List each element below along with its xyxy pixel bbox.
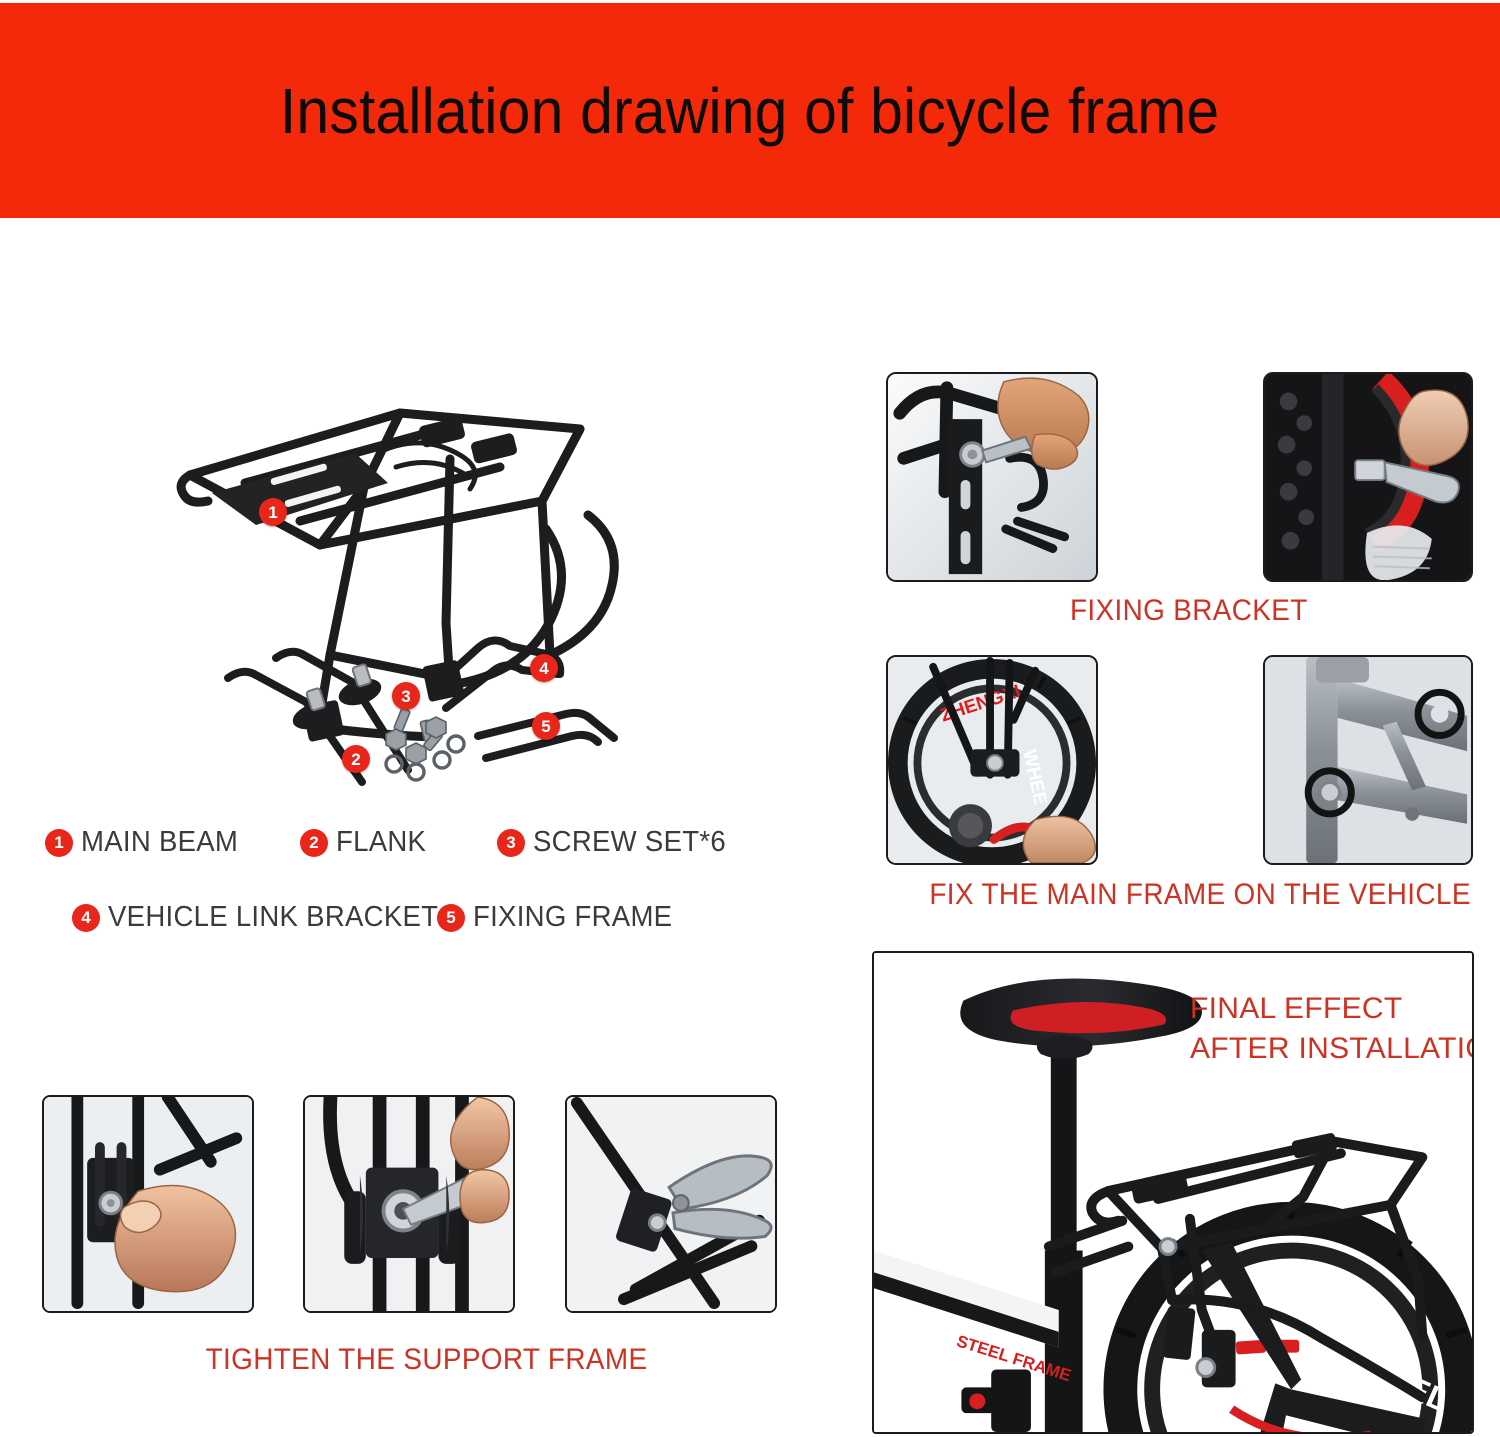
callout-5: 5 — [532, 712, 560, 740]
caption-fix-main-frame: FIX THE MAIN FRAME ON THE VEHICLE — [930, 878, 1471, 912]
photo-hex-key-tighten — [303, 1095, 515, 1313]
callout-3: 3 — [392, 682, 420, 710]
hand-bolt-photo-art — [44, 1097, 252, 1311]
frame-mount-photo-art — [1265, 657, 1471, 863]
legend-label-2: FLANK — [336, 826, 426, 859]
photo-hand-bolt — [42, 1095, 254, 1313]
legend-item-vehicle-link-bracket: 4 VEHICLE LINK BRACKET — [72, 901, 456, 934]
legend-badge-4: 4 — [72, 904, 100, 932]
pliers-photo-art — [567, 1097, 775, 1311]
legend-badge-2: 2 — [300, 829, 328, 857]
legend-label-1: MAIN BEAM — [81, 826, 238, 859]
photo-rear-wheel-mount: ZHENGXI WHEE — [886, 655, 1098, 865]
small-parts-drawing — [210, 630, 670, 820]
photo-installed-rack-on-bike: ER LITE STEEL FRAME WHEEL — [872, 951, 1474, 1434]
caption-final-effect-line1: FINAL EFFECT — [1190, 989, 1474, 1029]
legend-item-flank: 2 FLANK — [300, 826, 431, 859]
photo-frame-mount-points — [1263, 655, 1473, 865]
caption-final-effect-line2: AFTER INSTALLATION — [1190, 1029, 1474, 1069]
exploded-parts-illustration: 2 3 4 5 — [210, 630, 670, 820]
legend-badge-5: 5 — [437, 904, 465, 932]
caption-tighten-support-frame: TIGHTEN THE SUPPORT FRAME — [206, 1343, 648, 1377]
callout-4: 4 — [530, 654, 558, 682]
page-title: Installation drawing of bicycle frame — [280, 74, 1220, 148]
caption-final-effect: FINAL EFFECT AFTER INSTALLATION — [1190, 989, 1474, 1069]
rear-wheel-photo-art: ZHENGXI WHEE — [888, 657, 1096, 863]
callout-2: 2 — [342, 745, 370, 773]
legend-badge-1: 1 — [45, 829, 73, 857]
photo-rack-bracket-closeup — [886, 372, 1098, 582]
caption-fixing-bracket: FIXING BRACKET — [1070, 594, 1308, 628]
rack-bracket-photo-art — [888, 374, 1096, 580]
hex-key-photo-art — [305, 1097, 513, 1311]
legend-badge-3: 3 — [497, 829, 525, 857]
legend-label-3: SCREW SET*6 — [533, 826, 726, 859]
legend-item-main-beam: 1 MAIN BEAM — [45, 826, 246, 859]
header-banner: Installation drawing of bicycle frame — [0, 3, 1500, 218]
photo-pliers-adjust — [565, 1095, 777, 1313]
installation-diagram-page: Installation drawing of bicycle frame — [0, 0, 1500, 1437]
legend-item-fixing-frame: 5 FIXING FRAME — [437, 901, 683, 934]
legend-label-5: FIXING FRAME — [473, 901, 672, 934]
bolt-wrench-photo-art — [1265, 374, 1471, 580]
legend-item-screw-set: 3 SCREW SET*6 — [497, 826, 736, 859]
photo-bolt-wrench-closeup — [1263, 372, 1473, 582]
legend-label-4: VEHICLE LINK BRACKET — [108, 901, 438, 934]
callout-1: 1 — [259, 498, 287, 526]
